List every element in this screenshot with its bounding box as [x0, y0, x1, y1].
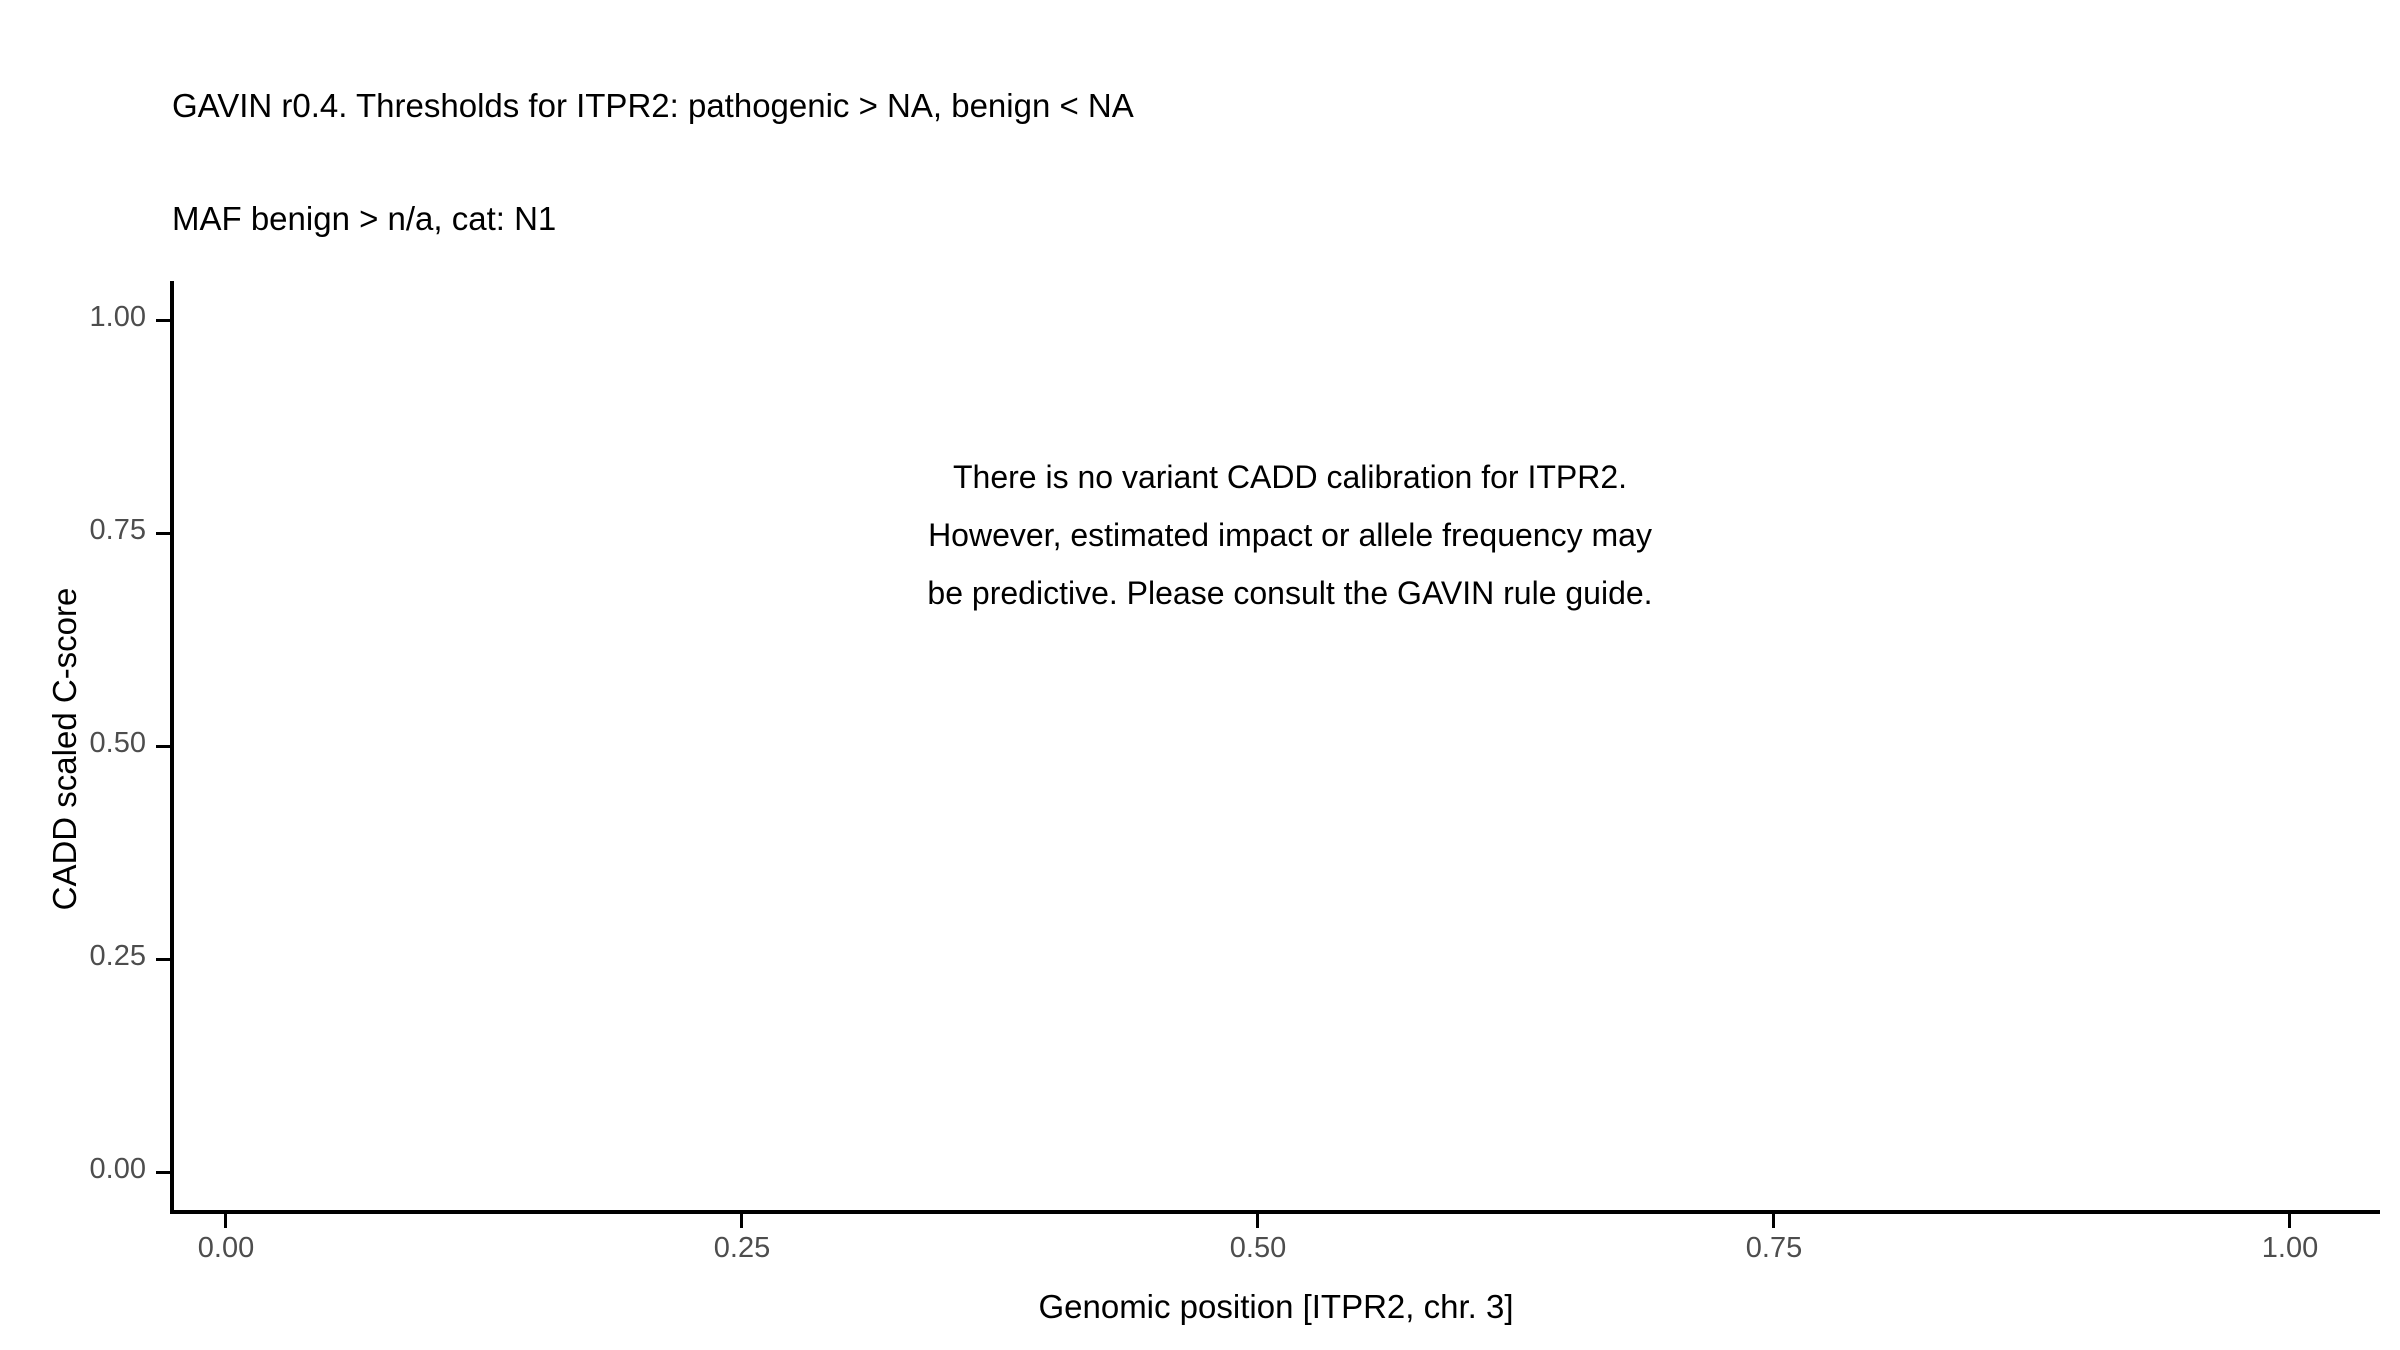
annotation-line-1: There is no variant CADD calibration for… [690, 448, 1890, 506]
y-tick-label-1.00: 1.00 [26, 301, 146, 334]
x-tick-mark-0.00 [224, 1214, 227, 1228]
x-tick-mark-0.25 [740, 1214, 743, 1228]
plot-panel [172, 282, 2380, 1212]
y-tick-mark-0.00 [156, 1171, 170, 1174]
y-tick-label-0.75: 0.75 [26, 514, 146, 547]
y-tick-mark-0.50 [156, 745, 170, 748]
x-tick-label-0.25: 0.25 [662, 1232, 822, 1265]
chart-title-line-1: GAVIN r0.4. Thresholds for ITPR2: pathog… [172, 87, 2352, 125]
y-tick-label-0.50: 0.50 [26, 727, 146, 760]
y-tick-mark-1.00 [156, 319, 170, 322]
y-tick-mark-0.25 [156, 958, 170, 961]
x-tick-label-0.00: 0.00 [146, 1232, 306, 1265]
x-tick-label-1.00: 1.00 [2210, 1232, 2370, 1265]
y-tick-label-0.00: 0.00 [26, 1153, 146, 1186]
y-tick-label-0.25: 0.25 [26, 940, 146, 973]
x-axis-title: Genomic position [ITPR2, chr. 3] [172, 1288, 2380, 1326]
chart-figure: GAVIN r0.4. Thresholds for ITPR2: pathog… [0, 0, 2400, 1350]
x-axis-line [170, 1210, 2380, 1214]
x-tick-mark-1.00 [2288, 1214, 2291, 1228]
x-tick-mark-0.50 [1256, 1214, 1259, 1228]
y-axis-line [170, 281, 174, 1214]
no-calibration-annotation: There is no variant CADD calibration for… [690, 448, 1890, 622]
chart-title-line-2: MAF benign > n/a, cat: N1 [172, 200, 2352, 238]
y-tick-mark-0.75 [156, 532, 170, 535]
x-tick-label-0.75: 0.75 [1694, 1232, 1854, 1265]
annotation-line-3: be predictive. Please consult the GAVIN … [690, 564, 1890, 622]
x-tick-mark-0.75 [1772, 1214, 1775, 1228]
annotation-line-2: However, estimated impact or allele freq… [690, 506, 1890, 564]
x-tick-label-0.50: 0.50 [1178, 1232, 1338, 1265]
